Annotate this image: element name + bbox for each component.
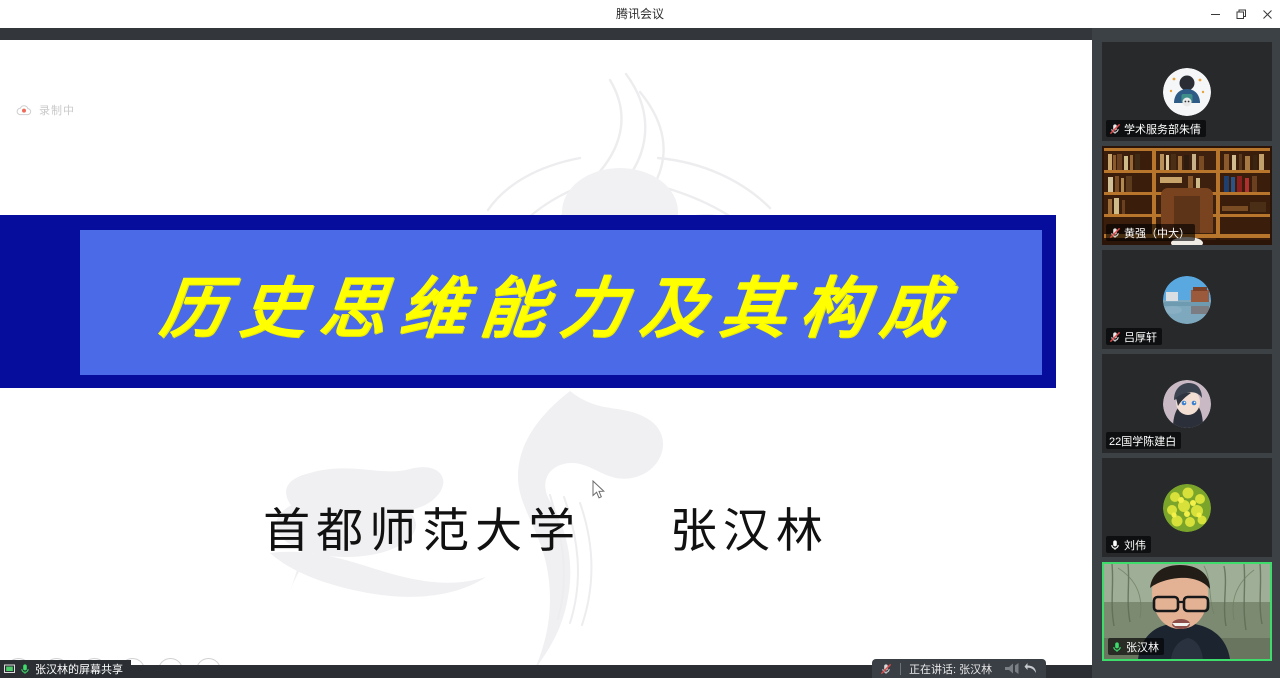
- participant-tile[interactable]: 学术服务部朱倩: [1102, 42, 1272, 141]
- recording-indicator: 录制中: [16, 102, 75, 118]
- ellipsis-icon[interactable]: [196, 658, 221, 665]
- participant-name: 刘伟: [1124, 537, 1146, 553]
- participant-name: 张汉林: [1126, 639, 1159, 655]
- participant-tile-active-speaker[interactable]: 张汉林: [1102, 562, 1272, 661]
- mic-speaking-icon: [1111, 641, 1123, 653]
- speaking-actions[interactable]: [1004, 662, 1038, 675]
- return-arrow-icon[interactable]: [1024, 662, 1038, 675]
- window-title: 腾讯会议: [0, 0, 1280, 28]
- name-tag: 22国学陈建白: [1106, 432, 1181, 449]
- name-tag: 刘伟: [1106, 536, 1151, 553]
- participant-name: 22国学陈建白: [1109, 433, 1176, 449]
- share-top-strip: [0, 28, 1092, 40]
- restore-button[interactable]: [1228, 0, 1254, 28]
- minimize-button[interactable]: [1202, 0, 1228, 28]
- name-tag: 张汉林: [1108, 638, 1164, 655]
- participant-tile[interactable]: 22国学陈建白: [1102, 354, 1272, 453]
- magnifier-icon[interactable]: [158, 658, 183, 665]
- recording-label: 录制中: [39, 102, 75, 118]
- slide-title: 历史思维能力及其构成: [156, 255, 966, 351]
- window-titlebar: 腾讯会议: [0, 0, 1280, 28]
- avatar: [1163, 68, 1211, 116]
- mic-muted-icon: [1109, 123, 1121, 135]
- mic-on-icon: [1109, 539, 1121, 551]
- volume-icon[interactable]: [1004, 662, 1020, 675]
- cloud-record-icon: [16, 104, 32, 116]
- name-tag: 学术服务部朱倩: [1106, 120, 1206, 137]
- avatar: [1163, 380, 1211, 428]
- screen-share-label: 张汉林的屏幕共享: [35, 661, 123, 677]
- slide-title-banner: 历史思维能力及其构成: [80, 230, 1042, 375]
- screen-share-icon: [4, 664, 15, 675]
- screen-share-tag: 张汉林的屏幕共享: [0, 660, 131, 678]
- speaking-label: 正在讲话: 张汉林: [909, 661, 992, 677]
- slide-subtitle: 首都师范大学 张汉林: [0, 492, 1092, 561]
- speaking-indicator: 正在讲话: 张汉林: [872, 659, 1046, 678]
- meeting-window-body: 录制中 历史思维能力及其构成 首都师范大学 张汉林: [0, 28, 1280, 678]
- presentation-slide[interactable]: 录制中 历史思维能力及其构成 首都师范大学 张汉林: [0, 40, 1092, 665]
- participant-tile[interactable]: 刘伟: [1102, 458, 1272, 557]
- participant-name: 学术服务部朱倩: [1124, 121, 1201, 137]
- mic-muted-icon: [1109, 227, 1121, 239]
- mic-muted-icon: [1109, 331, 1121, 343]
- close-button[interactable]: [1254, 0, 1280, 28]
- mouse-cursor: [592, 480, 606, 500]
- shared-screen-area: 录制中 历史思维能力及其构成 首都师范大学 张汉林: [0, 28, 1092, 678]
- name-tag: 吕厚轩: [1106, 328, 1162, 345]
- participant-tile[interactable]: 吕厚轩: [1102, 250, 1272, 349]
- name-tag: 黄强（中大）: [1106, 224, 1195, 241]
- participant-rail[interactable]: 学术服务部朱倩: [1092, 28, 1280, 678]
- participant-tile[interactable]: 黄强（中大）: [1102, 146, 1272, 245]
- avatar: [1163, 484, 1211, 532]
- avatar: [1163, 276, 1211, 324]
- participant-name: 吕厚轩: [1124, 329, 1157, 345]
- speaking-separator: [900, 663, 901, 675]
- mic-muted-icon: [880, 663, 892, 675]
- mic-on-icon: [19, 663, 31, 675]
- participant-name: 黄强（中大）: [1124, 225, 1190, 241]
- window-controls: [1202, 0, 1280, 28]
